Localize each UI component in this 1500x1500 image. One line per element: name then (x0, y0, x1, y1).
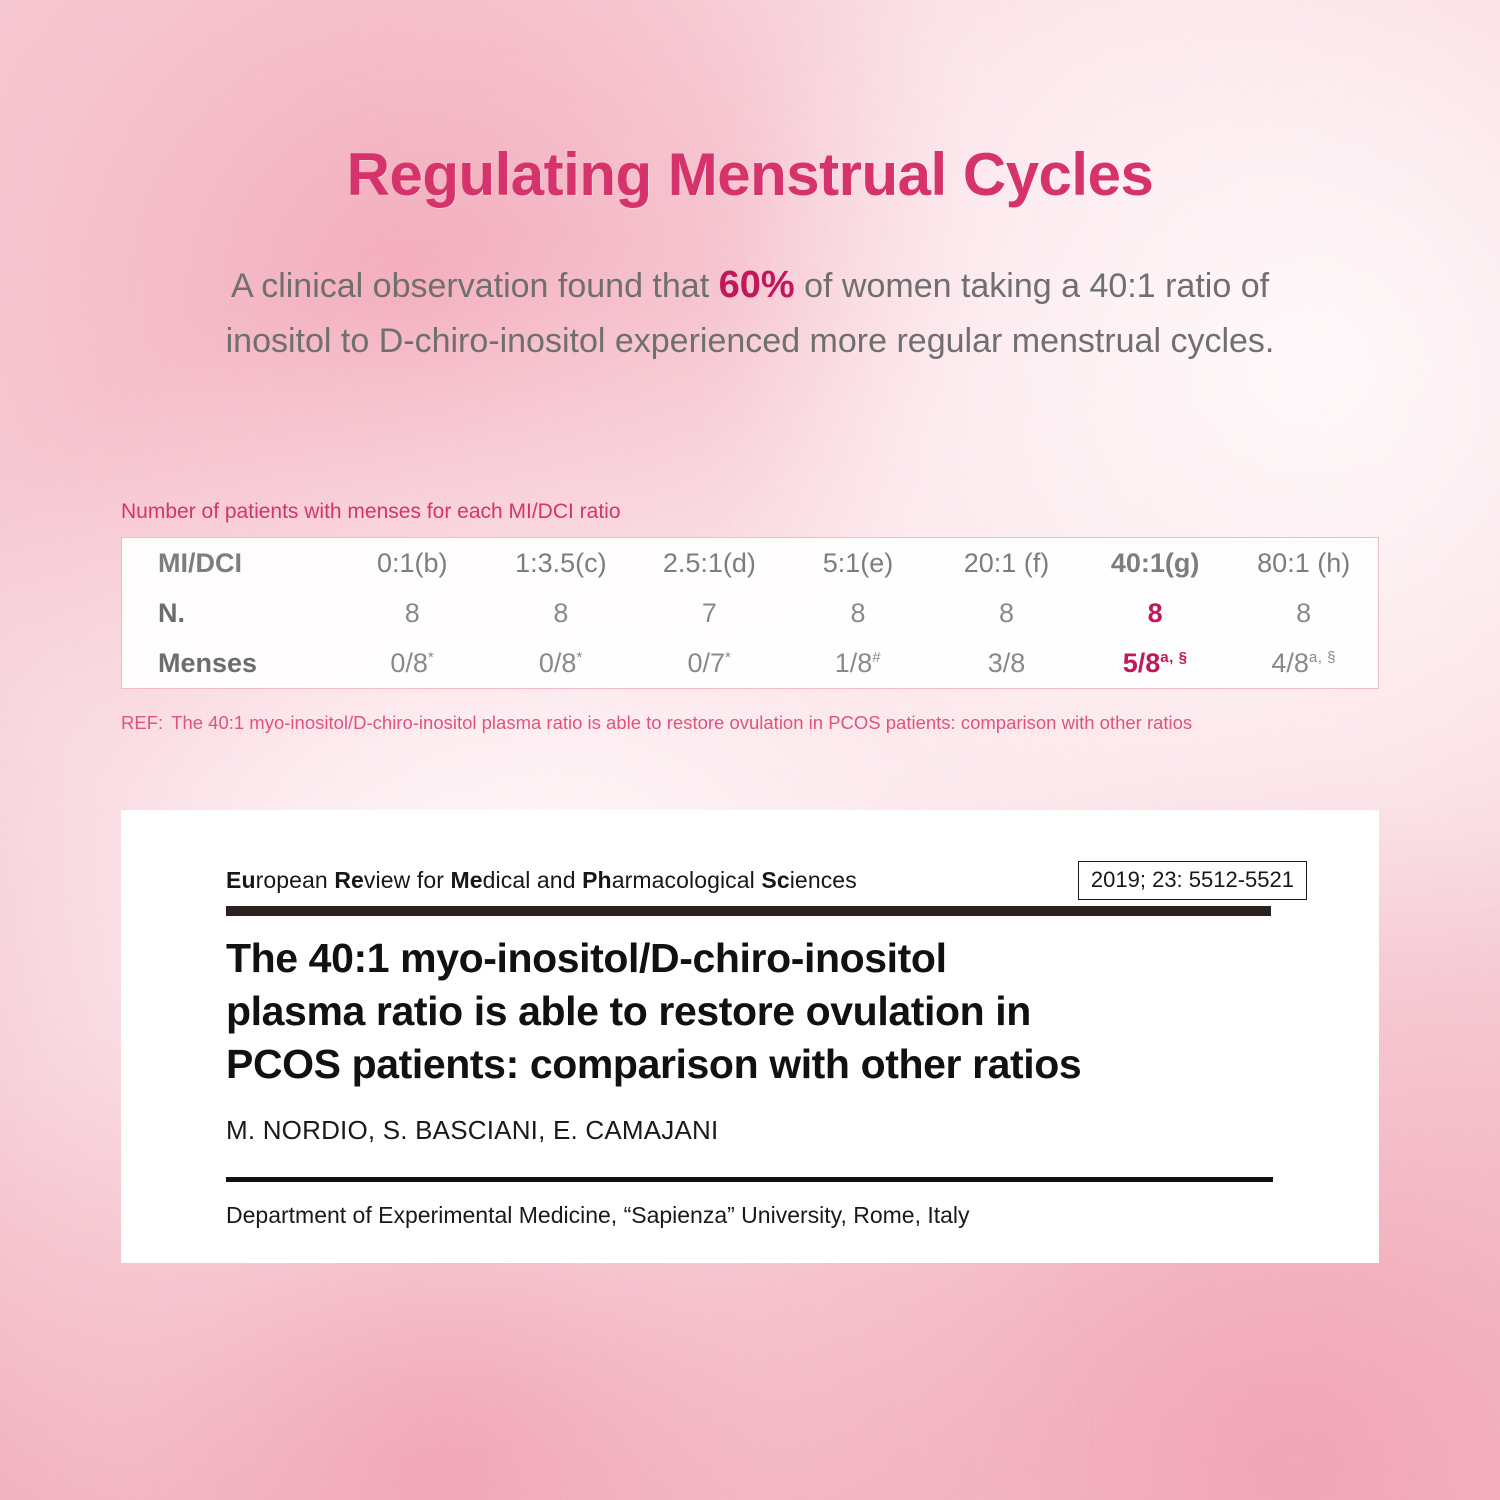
cell-n-0: 8 (338, 588, 487, 638)
subtitle-text-before: A clinical observation found that (231, 267, 719, 305)
table-row-n: N. 8 8 7 8 8 8 8 (122, 588, 1378, 638)
stats-table-card: MI/DCI 0:1(b) 1:3.5(c) 2.5:1(d) 5:1(e) 2… (121, 537, 1379, 689)
cell-menses-6: 4/8a, § (1229, 638, 1378, 688)
journal-header-row: European Review for Medical and Pharmaco… (226, 860, 1319, 900)
paper-title-line-3: PCOS patients: comparison with other rat… (226, 1038, 1236, 1091)
subtitle-highlight-percent: 60% (719, 264, 795, 306)
cell-n-1: 8 (487, 588, 636, 638)
paper-title: The 40:1 myo-inositol/D-chiro-inositol p… (226, 932, 1236, 1091)
table-caption: Number of patients with menses for each … (121, 500, 621, 524)
journal-paper-card: European Review for Medical and Pharmaco… (121, 810, 1379, 1263)
row-label-midci: MI/DCI (122, 538, 338, 588)
journal-issue-box: 2019; 23: 5512-5521 (1078, 861, 1307, 900)
paper-title-line-2: plasma ratio is able to restore ovulatio… (226, 985, 1236, 1038)
row-label-menses: Menses (122, 638, 338, 688)
cell-menses-0: 0/8* (338, 638, 487, 688)
cell-n-5: 8 (1081, 588, 1230, 638)
table-row-ratio: MI/DCI 0:1(b) 1:3.5(c) 2.5:1(d) 5:1(e) 2… (122, 538, 1378, 588)
cell-menses-2: 0/7* (635, 638, 784, 688)
paper-affiliation: Department of Experimental Medicine, “Sa… (226, 1202, 970, 1229)
reference-text: The 40:1 myo-inositol/D-chiro-inositol p… (171, 712, 1192, 733)
cell-ratio-1: 1:3.5(c) (487, 538, 636, 588)
page-subtitle: A clinical observation found that 60% of… (175, 258, 1325, 369)
infographic-page: Regulating Menstrual Cycles A clinical o… (0, 0, 1500, 1500)
cell-ratio-0: 0:1(b) (338, 538, 487, 588)
cell-menses-4: 3/8 (932, 638, 1081, 688)
cell-n-6: 8 (1229, 588, 1378, 638)
cell-ratio-2: 2.5:1(d) (635, 538, 784, 588)
cell-ratio-5: 40:1(g) (1081, 538, 1230, 588)
cell-ratio-4: 20:1 (f) (932, 538, 1081, 588)
cell-menses-1: 0/8* (487, 638, 636, 688)
cell-ratio-6: 80:1 (h) (1229, 538, 1378, 588)
paper-title-line-1: The 40:1 myo-inositol/D-chiro-inositol (226, 932, 1236, 985)
cell-menses-3: 1/8# (784, 638, 933, 688)
page-title: Regulating Menstrual Cycles (0, 140, 1500, 209)
cell-menses-5: 5/8a, § (1081, 638, 1230, 688)
cell-n-3: 8 (784, 588, 933, 638)
cell-n-2: 7 (635, 588, 784, 638)
reference-line: REF:The 40:1 myo-inositol/D-chiro-inosit… (121, 712, 1391, 734)
table-row-menses: Menses 0/8* 0/8* 0/7* 1/8# 3/8 5/8a, § 4… (122, 638, 1378, 688)
journal-name: European Review for Medical and Pharmaco… (226, 867, 857, 894)
stats-table: MI/DCI 0:1(b) 1:3.5(c) 2.5:1(d) 5:1(e) 2… (122, 538, 1378, 688)
paper-authors: M. NORDIO, S. BASCIANI, E. CAMAJANI (226, 1115, 718, 1146)
journal-header-rule (226, 906, 1271, 916)
reference-label: REF: (121, 712, 163, 733)
row-label-n: N. (122, 588, 338, 638)
cell-ratio-3: 5:1(e) (784, 538, 933, 588)
authors-divider (226, 1177, 1273, 1182)
cell-n-4: 8 (932, 588, 1081, 638)
